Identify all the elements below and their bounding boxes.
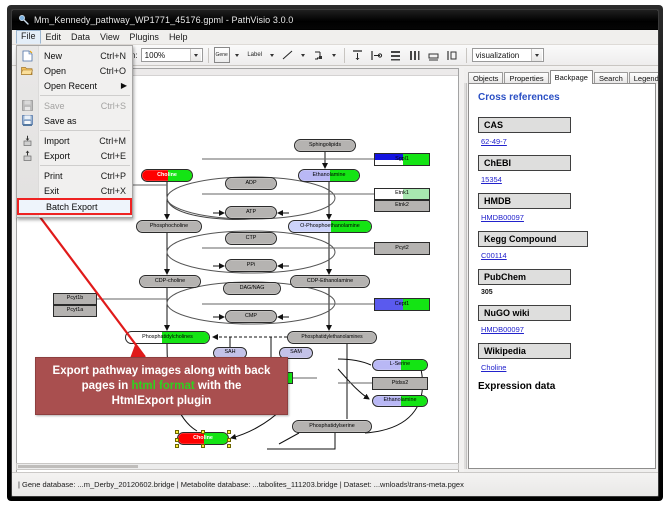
selection-handle-w[interactable] xyxy=(175,438,179,442)
open-folder-icon xyxy=(20,64,34,77)
menu-item-new[interactable]: New Ctrl+N xyxy=(17,48,132,63)
tab-label: Search xyxy=(599,74,623,83)
save-as-icon xyxy=(20,114,34,127)
xref-link[interactable]: 15354 xyxy=(481,175,502,184)
xref-name: CAS xyxy=(478,117,571,133)
panel-left-scrollbar[interactable] xyxy=(464,83,467,469)
screenshot-root: Mm_Kennedy_pathway_WP1771_45176.gpml - P… xyxy=(0,0,670,509)
menu-separator xyxy=(40,95,130,96)
xref-value: 305 xyxy=(478,289,646,296)
menu-item-accelerator: Ctrl+P xyxy=(101,171,132,181)
status-text: | Gene database: ...m_Derby_20120602.bri… xyxy=(12,480,464,489)
xref-name: HMDB xyxy=(478,193,571,209)
xref-value[interactable]: HMDB00097 xyxy=(478,325,646,334)
label-button-text: Label xyxy=(247,52,262,58)
datanode-icon[interactable]: Gene xyxy=(214,47,230,63)
pathvisio-icon xyxy=(18,14,29,25)
menu-item-export[interactable]: Export Ctrl+E xyxy=(17,148,132,163)
menu-file[interactable]: File xyxy=(16,30,41,44)
menu-item-open-recent[interactable]: Open Recent ▶ xyxy=(17,78,132,93)
xref-wikipedia: Wikipedia Choline xyxy=(478,343,646,372)
menu-item-label: Print xyxy=(39,171,101,181)
title-bar: Mm_Kennedy_pathway_WP1771_45176.gpml - P… xyxy=(12,10,659,30)
visualization-value: visualization xyxy=(476,51,520,60)
zoom-combo[interactable]: 100% xyxy=(141,48,203,62)
label-icon[interactable]: Label xyxy=(245,47,265,63)
callout-line-3: HtmlExport plugin xyxy=(112,394,212,409)
tab-label: Backpage xyxy=(555,73,588,82)
receptor-dropdown-icon[interactable] xyxy=(330,48,339,62)
menu-item-accelerator: Ctrl+M xyxy=(99,136,132,146)
menu-item-import[interactable]: Import Ctrl+M xyxy=(17,133,132,148)
menu-plugins[interactable]: Plugins xyxy=(124,31,164,44)
tab-label: Legend xyxy=(634,74,659,83)
xref-name: NuGO wiki xyxy=(478,305,571,321)
xref-value[interactable]: HMDB00097 xyxy=(478,213,646,222)
align-columns-icon[interactable] xyxy=(407,47,423,63)
menu-edit[interactable]: Edit xyxy=(41,31,67,44)
selection-handle-s[interactable] xyxy=(201,444,205,448)
xref-value[interactable]: 15354 xyxy=(478,175,646,184)
menu-item-label: Save xyxy=(39,101,101,111)
menu-item-batch-export[interactable]: Batch Export xyxy=(17,198,132,215)
selection-handle-nw[interactable] xyxy=(175,430,179,434)
menu-item-accelerator: Ctrl+E xyxy=(101,151,132,161)
export-icon xyxy=(20,149,34,162)
same-height-icon[interactable] xyxy=(445,47,461,63)
submenu-arrow-icon: ▶ xyxy=(121,81,132,90)
xref-name: PubChem xyxy=(478,269,571,285)
side-panel-tabs: Objects Properties Backpage Search Legen… xyxy=(468,70,656,84)
new-file-icon xyxy=(20,49,34,62)
menu-item-label: Export xyxy=(39,151,101,161)
line-icon[interactable] xyxy=(280,47,296,63)
toolbar-separator-2 xyxy=(344,48,345,63)
annotation-callout: Export pathway images along with back pa… xyxy=(35,357,288,415)
menu-item-exit[interactable]: Exit Ctrl+X xyxy=(17,183,132,198)
cross-references-title: Cross references xyxy=(478,92,646,103)
menu-item-label: New xyxy=(39,51,100,61)
menu-item-label: Open xyxy=(39,66,100,76)
xref-link[interactable]: Choline xyxy=(481,363,506,372)
same-width-icon[interactable] xyxy=(426,47,442,63)
align-left-icon[interactable] xyxy=(369,47,385,63)
toolbar-separator xyxy=(208,48,209,63)
line-dropdown-icon[interactable] xyxy=(299,48,308,62)
xref-link[interactable]: HMDB00097 xyxy=(481,325,524,334)
datanode-dropdown-icon[interactable] xyxy=(233,48,242,62)
side-panel: Objects Properties Backpage Search Legen… xyxy=(464,68,656,473)
save-disk-icon xyxy=(20,99,34,112)
xref-pubchem: PubChem 305 xyxy=(478,269,646,296)
menu-bar: File Edit Data View Plugins Help xyxy=(12,30,659,45)
tab-label: Objects xyxy=(473,74,498,83)
node-label: Choline xyxy=(193,436,213,441)
xref-link[interactable]: C00114 xyxy=(481,251,507,260)
expression-data-title: Expression data xyxy=(478,381,646,392)
callout-line2-suffix: with the xyxy=(195,380,242,392)
xref-link[interactable]: HMDB00097 xyxy=(481,213,524,222)
xref-chebi: ChEBI 15354 xyxy=(478,155,646,184)
menu-item-label: Open Recent xyxy=(39,81,121,91)
xref-hmdb: HMDB HMDB00097 xyxy=(478,193,646,222)
tab-backpage[interactable]: Backpage xyxy=(550,70,593,84)
callout-line2-prefix: pages in xyxy=(82,380,132,392)
callout-line-2: pages in html format with the xyxy=(82,379,242,394)
menu-item-label: Save as xyxy=(39,116,126,126)
selection-handle-n[interactable] xyxy=(201,430,205,434)
align-top-icon[interactable] xyxy=(350,47,366,63)
xref-name: ChEBI xyxy=(478,155,571,171)
menu-separator-3 xyxy=(40,165,130,166)
xref-name: Kegg Compound xyxy=(478,231,588,247)
tab-label: Properties xyxy=(509,74,543,83)
menu-item-save-as[interactable]: Save as xyxy=(17,113,132,128)
menu-item-open[interactable]: Open Ctrl+O xyxy=(17,63,132,78)
menu-item-accelerator: Ctrl+O xyxy=(100,66,132,76)
window-title: Mm_Kennedy_pathway_WP1771_45176.gpml - P… xyxy=(34,15,293,25)
xref-link[interactable]: 62-49-7 xyxy=(481,137,507,146)
selection-handle-se[interactable] xyxy=(227,444,231,448)
menu-item-label: Import xyxy=(39,136,99,146)
menu-view[interactable]: View xyxy=(95,31,124,44)
xref-value[interactable]: Choline xyxy=(478,363,646,372)
toolbar-separator-3 xyxy=(466,48,467,63)
visualization-chevron-down-icon[interactable] xyxy=(531,49,542,61)
menu-help[interactable]: Help xyxy=(164,31,193,44)
pathvisio-window: Mm_Kennedy_pathway_WP1771_45176.gpml - P… xyxy=(11,9,659,497)
import-icon xyxy=(20,134,34,147)
status-bar: | Gene database: ...m_Derby_20120602.bri… xyxy=(12,472,659,496)
menu-item-save: Save Ctrl+S xyxy=(17,98,132,113)
xref-kegg-compound: Kegg Compound C00114 xyxy=(478,231,646,260)
menu-item-accelerator: Ctrl+N xyxy=(100,51,132,61)
file-menu-popup[interactable]: New Ctrl+N Open Ctrl+O Open Recent ▶ Sav… xyxy=(16,45,133,218)
menu-data[interactable]: Data xyxy=(66,31,95,44)
menu-separator-2 xyxy=(40,130,130,131)
chevron-down-icon[interactable] xyxy=(190,49,201,61)
align-rows-icon[interactable] xyxy=(388,47,404,63)
xref-cas: CAS 62-49-7 xyxy=(478,117,646,146)
xref-value[interactable]: 62-49-7 xyxy=(478,137,646,146)
callout-highlight: html format xyxy=(131,380,194,392)
zoom-value: 100% xyxy=(145,51,165,60)
xref-name: Wikipedia xyxy=(478,343,571,359)
xref-value[interactable]: C00114 xyxy=(478,251,646,260)
selection-handle-ne[interactable] xyxy=(227,430,231,434)
xref-nugo-wiki: NuGO wiki HMDB00097 xyxy=(478,305,646,334)
receptor-icon[interactable] xyxy=(311,47,327,63)
menu-item-accelerator: Ctrl+X xyxy=(101,186,132,196)
callout-line-1: Export pathway images along with back xyxy=(53,364,271,379)
visualization-combo[interactable]: visualization xyxy=(472,48,544,62)
selection-handle-sw[interactable] xyxy=(175,444,179,448)
backpage-panel: Cross references CAS 62-49-7 ChEBI 15354… xyxy=(468,83,656,469)
selection-handle-e[interactable] xyxy=(227,438,231,442)
menu-item-label: Exit xyxy=(39,186,101,196)
menu-item-label: Batch Export xyxy=(41,202,130,212)
label-dropdown-icon[interactable] xyxy=(268,48,277,62)
menu-item-print[interactable]: Print Ctrl+P xyxy=(17,168,132,183)
menu-item-accelerator: Ctrl+S xyxy=(101,101,132,111)
